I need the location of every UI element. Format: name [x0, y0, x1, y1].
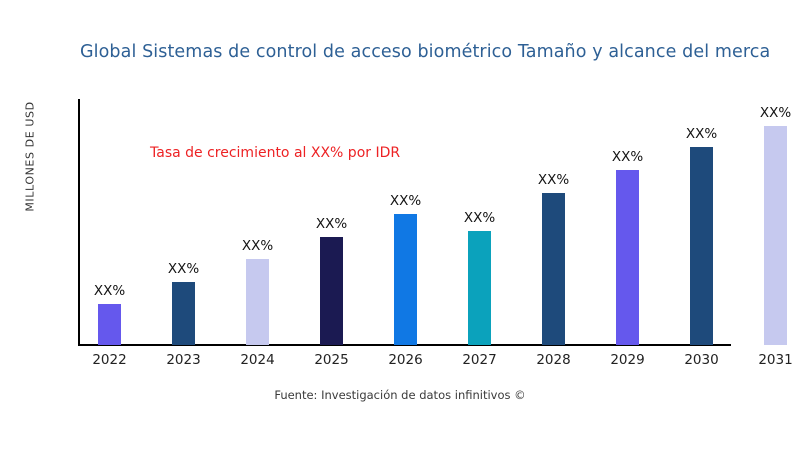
bar-rect-2023	[172, 282, 195, 345]
bar-value-label-2031: XX%	[760, 105, 791, 121]
bar-2030: XX%	[690, 147, 713, 345]
bar-rect-2029	[616, 170, 639, 345]
bar-rect-2031	[764, 126, 787, 345]
bar-rect-2026	[394, 214, 417, 345]
bar-value-label-2024: XX%	[242, 238, 273, 254]
source-note: Fuente: Investigación de datos infinitiv…	[0, 388, 800, 402]
bar-2024: XX%	[246, 259, 269, 345]
bar-2031: XX%	[764, 126, 787, 345]
bar-value-label-2022: XX%	[94, 283, 125, 299]
bar-value-label-2028: XX%	[538, 172, 569, 188]
chart-figure: Global Sistemas de control de acceso bio…	[0, 0, 800, 450]
bar-rect-2030	[690, 147, 713, 345]
x-tick-2023: 2023	[154, 352, 214, 368]
x-tick-2031: 2031	[746, 352, 800, 368]
bar-2026: XX%	[394, 214, 417, 345]
y-axis-spine	[78, 99, 80, 346]
plot-area: XX%XX%XX%XX%XX%XX%XX%XX%XX%XX% 202220232…	[0, 0, 800, 450]
bar-2028: XX%	[542, 193, 565, 345]
bar-2025: XX%	[320, 237, 343, 345]
bar-rect-2022	[98, 304, 121, 345]
x-tick-2024: 2024	[228, 352, 288, 368]
x-tick-2030: 2030	[672, 352, 732, 368]
x-tick-2028: 2028	[524, 352, 584, 368]
bar-value-label-2029: XX%	[612, 149, 643, 165]
bar-rect-2025	[320, 237, 343, 345]
x-tick-2025: 2025	[302, 352, 362, 368]
bar-rect-2028	[542, 193, 565, 345]
bar-value-label-2027: XX%	[464, 210, 495, 226]
bar-value-label-2023: XX%	[168, 261, 199, 277]
bar-2022: XX%	[98, 304, 121, 345]
bar-value-label-2025: XX%	[316, 216, 347, 232]
bar-value-label-2026: XX%	[390, 193, 421, 209]
bar-2029: XX%	[616, 170, 639, 345]
x-tick-2022: 2022	[80, 352, 140, 368]
x-tick-2029: 2029	[598, 352, 658, 368]
bar-rect-2024	[246, 259, 269, 345]
x-tick-2026: 2026	[376, 352, 436, 368]
bar-value-label-2030: XX%	[686, 126, 717, 142]
bar-2023: XX%	[172, 282, 195, 345]
bar-rect-2027	[468, 231, 491, 345]
x-tick-2027: 2027	[450, 352, 510, 368]
bar-2027: XX%	[468, 231, 491, 345]
